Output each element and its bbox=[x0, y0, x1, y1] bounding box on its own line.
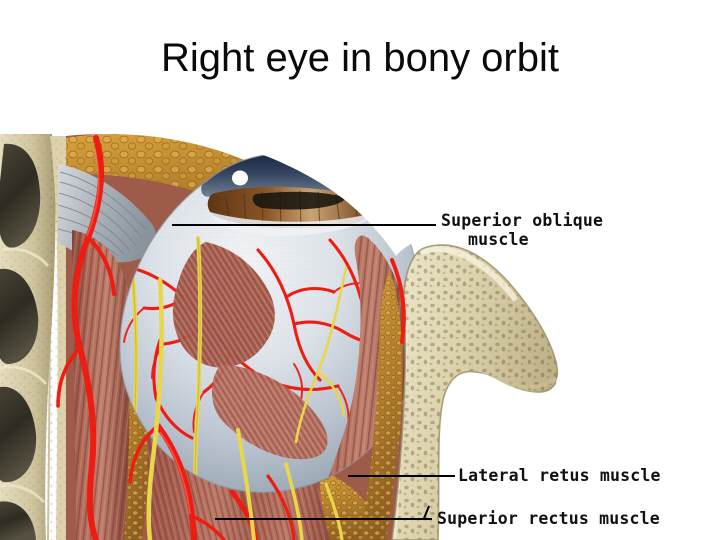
slide-canvas: Right eye in bony orbit bbox=[0, 0, 720, 540]
label-superior-rectus-muscle: Superior rectus muscle bbox=[437, 509, 660, 528]
leader-line-superior-oblique bbox=[172, 224, 436, 226]
label-lateral-rectus-muscle: Lateral retus muscle bbox=[458, 466, 661, 485]
page-title: Right eye in bony orbit bbox=[0, 33, 720, 83]
label-superior-oblique-line1: Superior oblique bbox=[441, 211, 603, 230]
label-superior-oblique-line2: muscle bbox=[468, 230, 529, 249]
leader-line-superior-rectus bbox=[215, 518, 432, 520]
leader-line-lateral-rectus bbox=[348, 475, 455, 477]
